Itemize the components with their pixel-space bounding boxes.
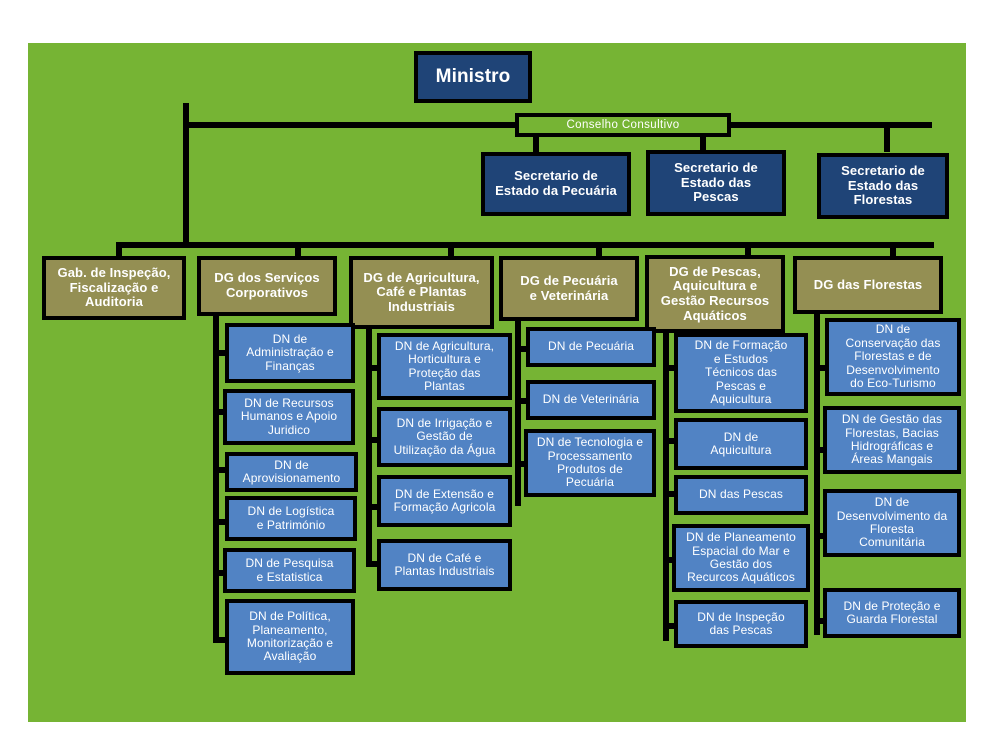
node-dn-gestao-florestas-bacias[interactable]: DN de Gestão das Florestas, Bacias Hidro… <box>823 406 961 474</box>
connector-dg-stem-2 <box>295 242 301 256</box>
connector-dg-stem-6 <box>890 242 896 256</box>
node-dn-pescas[interactable]: DN das Pescas <box>674 475 808 515</box>
connector-col4-spine <box>515 316 521 506</box>
node-dn-pecuaria[interactable]: DN de Pecuária <box>526 327 656 367</box>
connector-dg-stem-3 <box>448 242 454 256</box>
node-dn-administracao-financas[interactable]: DN de Administração e Finanças <box>225 323 355 383</box>
node-dg-pecuaria-veterinaria[interactable]: DG de Pecuária e Veterinária <box>499 256 639 321</box>
node-dg-pescas[interactable]: DG de Pescas, Aquicultura e Gestão Recur… <box>645 255 785 333</box>
connector-dg-stem-5 <box>745 242 751 256</box>
node-dg-gab-inspecao[interactable]: Gab. de Inspeção, Fiscalização e Auditor… <box>42 256 186 320</box>
node-dn-politica-planeamento[interactable]: DN de Política, Planeamento, Monitorizaç… <box>225 599 355 675</box>
node-dn-pesquisa-estatistica[interactable]: DN de Pesquisa e Estatistica <box>223 548 356 593</box>
node-dn-protecao-guarda-florestal[interactable]: DN de Proteção e Guarda Florestal <box>823 588 961 638</box>
node-ministro[interactable]: Ministro <box>414 51 532 103</box>
node-dn-planeamento-espacial-mar[interactable]: DN de Planeamento Espacial do Mar e Gest… <box>672 524 810 592</box>
node-dn-desenvolvimento-floresta-comunitaria[interactable]: DN de Desenvolvimento da Floresta Comuni… <box>823 489 961 557</box>
connector-secretary-stem-3 <box>884 122 890 152</box>
connector-dg-bus <box>116 242 934 248</box>
node-dn-extensao-formacao[interactable]: DN de Extensão e Formação Agricola <box>377 475 512 527</box>
node-secretario-pescas[interactable]: Secretario de Estado das Pescas <box>646 150 786 216</box>
node-dn-aquicultura[interactable]: DN de Aquicultura <box>674 418 808 470</box>
node-dn-inspecao-pescas[interactable]: DN de Inspeção das Pescas <box>674 600 808 648</box>
node-dg-servicos-corporativos[interactable]: DG dos Serviços Corporativos <box>197 256 337 316</box>
node-dn-conservacao-florestas[interactable]: DN de Conservação das Florestas e de Des… <box>825 318 961 396</box>
connector-dg-stem-1 <box>116 242 122 256</box>
node-dn-agricultura-horticultura[interactable]: DN de Agricultura, Horticultura e Proteç… <box>377 333 512 400</box>
node-dn-cafe-plantas[interactable]: DN de Café e Plantas Industriais <box>377 539 512 591</box>
node-secretario-florestas[interactable]: Secretario de Estado das Florestas <box>817 153 949 219</box>
org-chart-canvas: Ministro Conselho Consultivo Secretario … <box>28 43 966 722</box>
node-dg-florestas[interactable]: DG das Florestas <box>793 256 943 314</box>
node-dn-formacao-estudos-tecnicos[interactable]: DN de Formação e Estudos Técnicos das Pe… <box>674 333 808 413</box>
node-secretario-pecuaria[interactable]: Secretario de Estado da Pecuária <box>481 152 631 216</box>
connector-col6-spine <box>814 305 820 635</box>
connector-dg-stem-4 <box>596 242 602 256</box>
node-dn-irrigacao-agua[interactable]: DN de Irrigação e Gestão de Utilização d… <box>377 407 512 467</box>
node-dn-aprovisionamento[interactable]: DN de Aprovisionamento <box>225 452 358 492</box>
node-dn-logistica-patrimonio[interactable]: DN de Logística e Património <box>225 496 357 541</box>
node-dn-veterinaria[interactable]: DN de Veterinária <box>526 380 656 420</box>
connector-col2-spine <box>213 308 219 643</box>
node-dn-recursos-humanos[interactable]: DN de Recursos Humanos e Apoio Juridico <box>223 389 355 445</box>
node-conselho-consultivo[interactable]: Conselho Consultivo <box>515 113 731 137</box>
node-dg-agricultura[interactable]: DG de Agricultura, Café e Plantas Indust… <box>349 256 494 329</box>
node-dn-tecnologia-processamento[interactable]: DN de Tecnologia e Processamento Produto… <box>524 429 656 497</box>
